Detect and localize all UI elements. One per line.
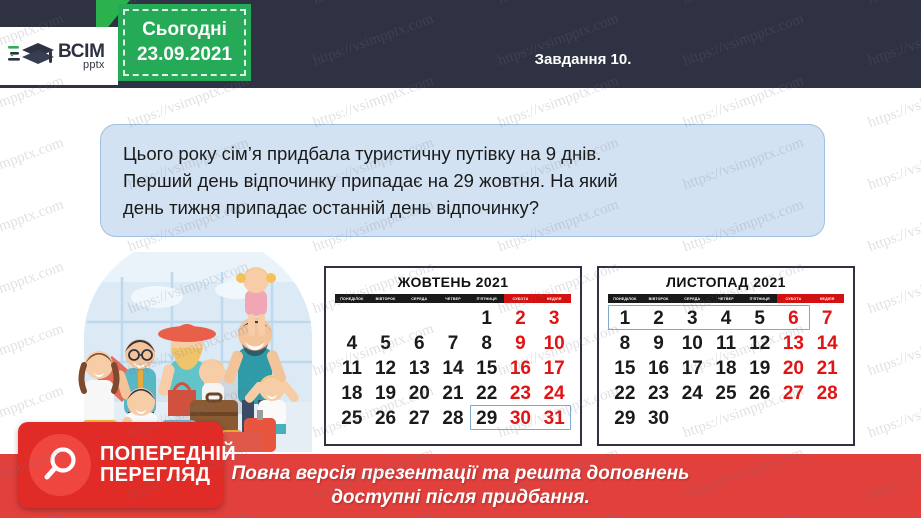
calendar-day-30[interactable]: 30 — [642, 406, 676, 431]
calendar-day-17[interactable]: 17 — [675, 356, 709, 381]
logo-title: ВСІМ — [58, 42, 105, 61]
calendar-day-15[interactable]: 15 — [470, 356, 504, 381]
calendar-day-21[interactable]: 21 — [436, 381, 470, 406]
question-line-1: Цього року сім’я придбала туристичну пут… — [123, 140, 802, 167]
calendar-day-23[interactable]: 23 — [642, 381, 676, 406]
calendar-day-16[interactable]: 16 — [504, 356, 538, 381]
calendar-day-26[interactable]: 26 — [743, 381, 777, 406]
calendar-day-20[interactable]: 20 — [402, 381, 436, 406]
calendar-empty-cell: · — [402, 306, 436, 331]
calendar-day-18[interactable]: 18 — [335, 381, 369, 406]
footer-line-2: доступні після придбання. — [331, 486, 590, 510]
calendar-empty-cell: · — [335, 306, 369, 331]
calendar-day-12[interactable]: 12 — [743, 331, 777, 356]
calendar-weekday-3: ЧЕТВЕР — [436, 294, 470, 303]
calendar-day-16[interactable]: 16 — [642, 356, 676, 381]
page-title: Завдання 10. — [535, 51, 632, 68]
calendar-empty-cell: · — [369, 306, 403, 331]
question-line-3: день тижня припадає останній день відпоч… — [123, 194, 802, 221]
calendar-day-28[interactable]: 28 — [436, 406, 470, 431]
calendar-day-19[interactable]: 19 — [369, 381, 403, 406]
calendar-day-22[interactable]: 22 — [470, 381, 504, 406]
calendar-day-14[interactable]: 14 — [810, 331, 844, 356]
calendar-day-25[interactable]: 25 — [709, 381, 743, 406]
calendar-day-4[interactable]: 4 — [709, 306, 743, 331]
calendar-day-23[interactable]: 23 — [504, 381, 538, 406]
calendar-day-9[interactable]: 9 — [642, 331, 676, 356]
graduation-cap-icon — [8, 39, 56, 73]
watermark-text: https://vsimpptx.com — [866, 259, 921, 318]
calendar-day-29[interactable]: 29 — [608, 406, 642, 431]
calendar-day-20[interactable]: 20 — [777, 356, 811, 381]
calendar-weekday-1: ВІВТОРОК — [369, 294, 403, 303]
watermark-text: https://vsimpptx.com — [866, 383, 921, 442]
watermark-text: https://vsimpptx.com — [866, 321, 921, 380]
calendar-day-11[interactable]: 11 — [709, 331, 743, 356]
calendar-day-31[interactable]: 31 — [537, 406, 571, 431]
footer-line-1: Повна версія презентації та решта доповн… — [232, 462, 690, 486]
calendar-weekday-2: СЕРЕДА — [402, 294, 436, 303]
calendar-day-15[interactable]: 15 — [608, 356, 642, 381]
calendar-day-2[interactable]: 2 — [642, 306, 676, 331]
question-line-2: Перший день відпочинку припадає на 29 жо… — [123, 167, 802, 194]
magnifier-icon — [29, 434, 91, 496]
brand-logo[interactable]: ВСІМ pptx — [0, 27, 118, 85]
calendar-day-21[interactable]: 21 — [810, 356, 844, 381]
calendar-day-4[interactable]: 4 — [335, 331, 369, 356]
calendar-day-28[interactable]: 28 — [810, 381, 844, 406]
calendar-day-10[interactable]: 10 — [675, 331, 709, 356]
today-date-badge: Сьогодні 23.09.2021 — [118, 4, 251, 81]
preview-badge[interactable]: ПОПЕРЕДНІЙ ПЕРЕГЛЯД — [18, 422, 223, 508]
preview-badge-line-1: ПОПЕРЕДНІЙ — [100, 443, 236, 465]
slide-title-band: Завдання 10. — [255, 36, 911, 83]
calendar-day-13[interactable]: 13 — [777, 331, 811, 356]
calendar-weekday-0: ПОНЕДІЛОК — [608, 294, 642, 303]
question-box: Цього року сім’я придбала туристичну пут… — [100, 124, 825, 237]
calendar-title: ЖОВТЕНЬ 2021 — [335, 274, 571, 290]
calendar-title: ЛИСТОПАД 2021 — [608, 274, 844, 290]
calendar-day-22[interactable]: 22 — [608, 381, 642, 406]
watermark-text: https://vsimpptx.com — [0, 197, 66, 256]
calendar-weekday-6: НЕДІЛЯ — [810, 294, 844, 303]
calendar-day-14[interactable]: 14 — [436, 356, 470, 381]
calendar-day-11[interactable]: 11 — [335, 356, 369, 381]
calendar-day-3[interactable]: 3 — [675, 306, 709, 331]
calendar-weekday-2: СЕРЕДА — [675, 294, 709, 303]
calendar-grid[interactable]: 1234567891011121314151617181920212223242… — [608, 306, 844, 431]
calendar-day-7[interactable]: 7 — [810, 306, 844, 331]
calendar-day-1[interactable]: 1 — [608, 306, 642, 331]
calendar-day-13[interactable]: 13 — [402, 356, 436, 381]
calendar-day-2[interactable]: 2 — [504, 306, 538, 331]
today-label: Сьогодні — [142, 19, 227, 41]
calendar-day-25[interactable]: 25 — [335, 406, 369, 431]
calendar-day-5[interactable]: 5 — [743, 306, 777, 331]
calendar-weekday-5: СУБОТА — [504, 294, 538, 303]
watermark-text: https://vsimpptx.com — [0, 135, 66, 194]
calendar-day-26[interactable]: 26 — [369, 406, 403, 431]
calendar-october[interactable]: ЖОВТЕНЬ 2021 ПОНЕДІЛОКВІВТОРОКСЕРЕДАЧЕТВ… — [324, 266, 582, 446]
calendar-day-29[interactable]: 29 — [470, 406, 504, 431]
calendar-day-1[interactable]: 1 — [470, 306, 504, 331]
calendar-day-12[interactable]: 12 — [369, 356, 403, 381]
watermark-text: https://vsimpptx.com — [0, 321, 66, 380]
calendar-day-18[interactable]: 18 — [709, 356, 743, 381]
calendar-weekday-6: НЕДІЛЯ — [537, 294, 571, 303]
calendar-day-30[interactable]: 30 — [504, 406, 538, 431]
calendar-weekday-3: ЧЕТВЕР — [709, 294, 743, 303]
calendar-day-24[interactable]: 24 — [675, 381, 709, 406]
watermark-text: https://vsimpptx.com — [866, 197, 921, 256]
calendar-weekday-header: ПОНЕДІЛОКВІВТОРОКСЕРЕДАЧЕТВЕРП'ЯТНИЦЯСУБ… — [335, 294, 571, 303]
preview-badge-line-2: ПЕРЕГЛЯД — [100, 464, 210, 486]
calendar-day-6[interactable]: 6 — [777, 306, 811, 331]
calendar-weekday-0: ПОНЕДІЛОК — [335, 294, 369, 303]
calendar-weekday-4: П'ЯТНИЦЯ — [743, 294, 777, 303]
calendar-weekday-4: П'ЯТНИЦЯ — [470, 294, 504, 303]
calendar-weekday-1: ВІВТОРОК — [642, 294, 676, 303]
calendar-day-10[interactable]: 10 — [537, 331, 571, 356]
calendar-day-24[interactable]: 24 — [537, 381, 571, 406]
calendar-day-5[interactable]: 5 — [369, 331, 403, 356]
slide-canvas: ВСІМ pptx Сьогодні 23.09.2021 Завдання 1… — [0, 0, 921, 518]
calendar-empty-cell: · — [436, 306, 470, 331]
calendar-day-8[interactable]: 8 — [608, 331, 642, 356]
calendar-day-6[interactable]: 6 — [402, 331, 436, 356]
calendar-day-3[interactable]: 3 — [537, 306, 571, 331]
calendar-day-9[interactable]: 9 — [504, 331, 538, 356]
today-date-value: 23.09.2021 — [137, 44, 232, 66]
calendar-day-17[interactable]: 17 — [537, 356, 571, 381]
calendar-weekday-header: ПОНЕДІЛОКВІВТОРОКСЕРЕДАЧЕТВЕРП'ЯТНИЦЯСУБ… — [608, 294, 844, 303]
calendar-day-7[interactable]: 7 — [436, 331, 470, 356]
watermark-text: https://vsimpptx.com — [0, 259, 66, 318]
calendar-grid[interactable]: ····123456789101112131415161718192021222… — [335, 306, 571, 431]
calendar-day-27[interactable]: 27 — [777, 381, 811, 406]
watermark-text: https://vsimpptx.com — [866, 135, 921, 194]
calendar-weekday-5: СУБОТА — [777, 294, 811, 303]
calendar-november[interactable]: ЛИСТОПАД 2021 ПОНЕДІЛОКВІВТОРОКСЕРЕДАЧЕТ… — [597, 266, 855, 446]
calendar-day-27[interactable]: 27 — [402, 406, 436, 431]
calendar-day-8[interactable]: 8 — [470, 331, 504, 356]
calendar-day-19[interactable]: 19 — [743, 356, 777, 381]
